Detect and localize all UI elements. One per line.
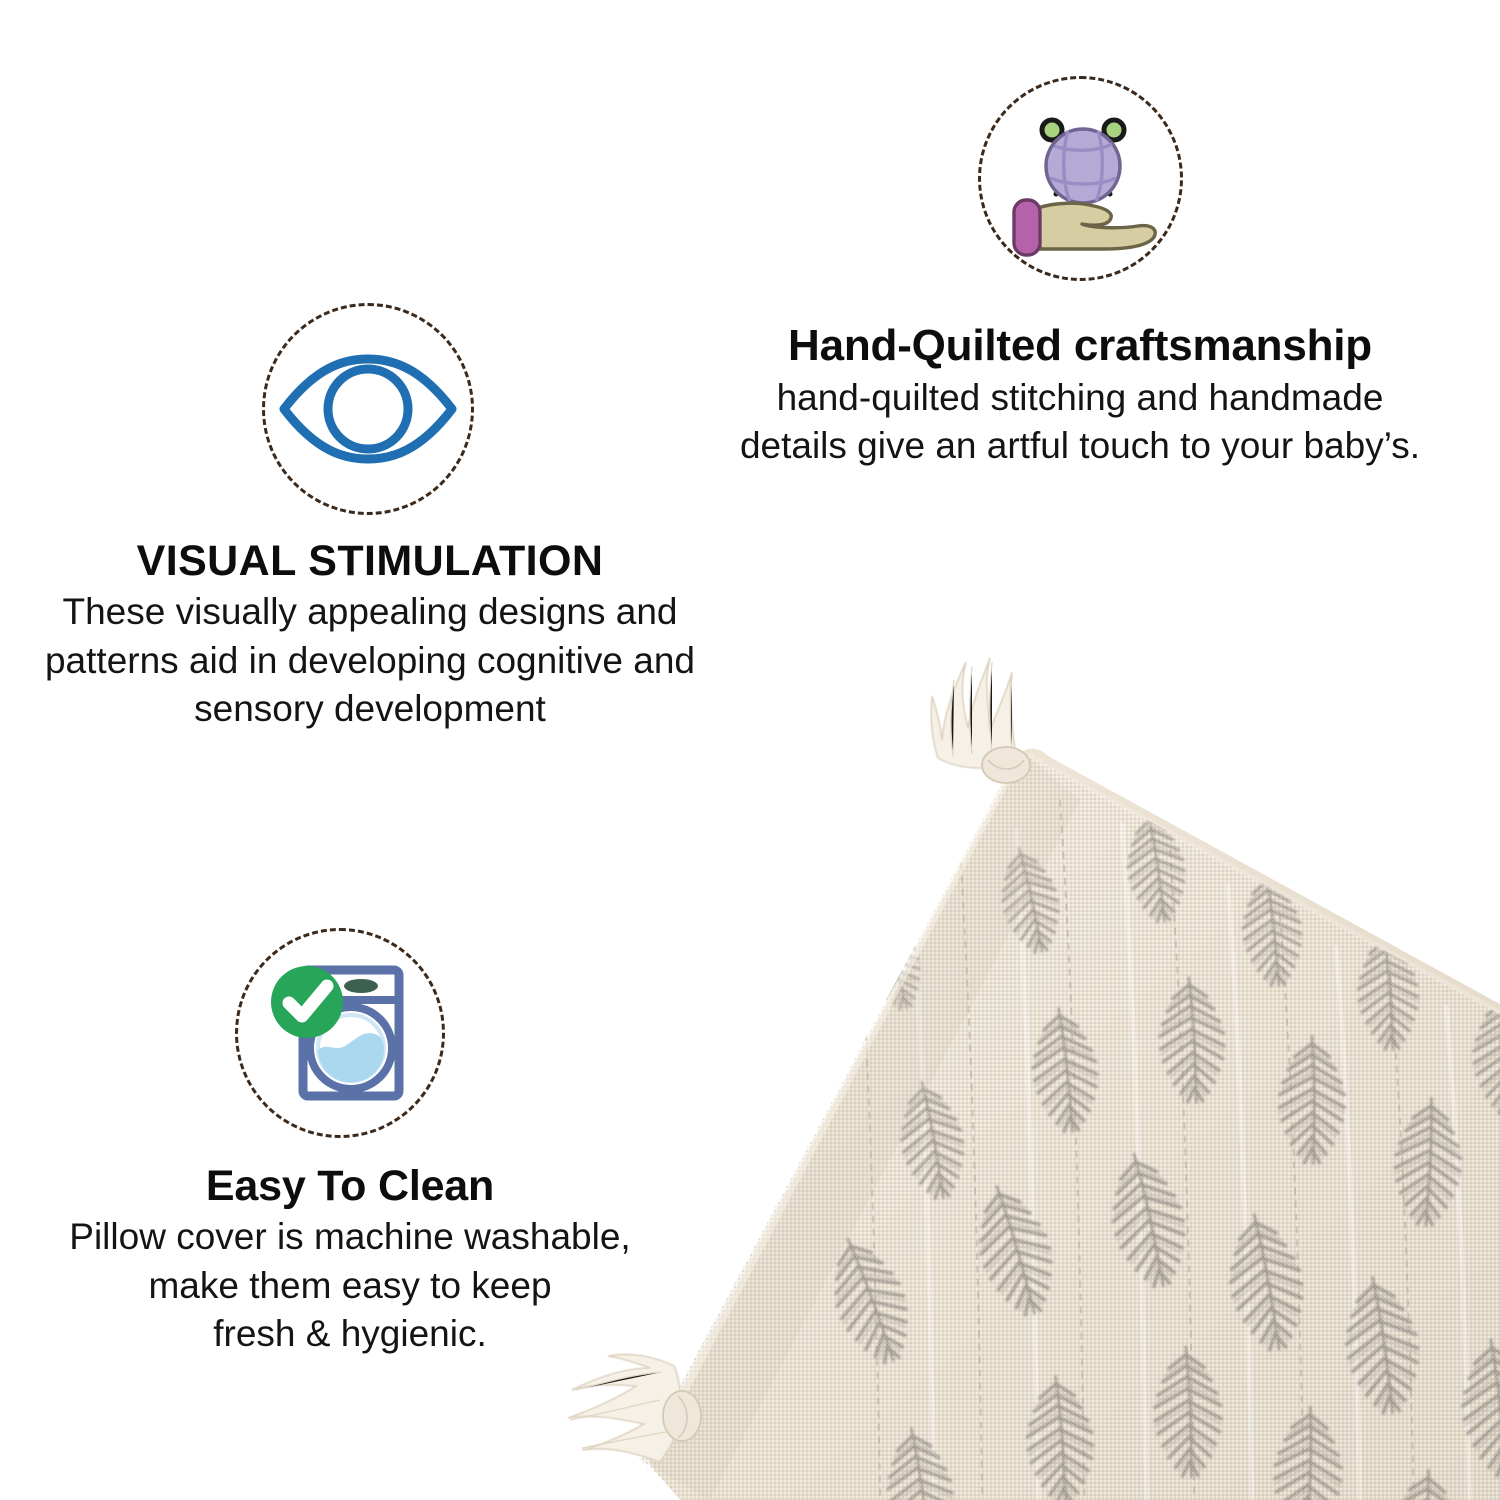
pillow-tassel-bottom-left xyxy=(568,1354,701,1462)
feature-body-line: make them easy to keep xyxy=(148,1265,551,1306)
feature-body: These visually appealing designs and pat… xyxy=(10,588,730,732)
feature-heading: Easy To Clean xyxy=(0,1163,700,1209)
feature-body-line: fresh & hygienic. xyxy=(213,1313,487,1354)
eye-icon xyxy=(278,353,458,465)
feature-body-line: sensory development xyxy=(194,688,546,729)
feature-heading: Hand-Quilted craftsmanship xyxy=(690,322,1470,370)
feature-easy-to-clean: Easy To Clean Pillow cover is machine wa… xyxy=(0,1163,700,1358)
feature-body: Pillow cover is machine washable, make t… xyxy=(0,1213,700,1357)
washing-machine-check-icon xyxy=(257,950,423,1116)
hand-quilted-icon-badge xyxy=(978,76,1183,281)
feature-body-line: These visually appealing designs and xyxy=(62,591,677,632)
pillow-body xyxy=(560,600,1500,1500)
pillow-tassel-top xyxy=(931,658,1030,783)
feature-body-line: Pillow cover is machine washable, xyxy=(69,1216,630,1257)
visual-stimulation-icon-badge xyxy=(262,303,474,515)
feature-body-line: patterns aid in developing cognitive and xyxy=(45,640,695,681)
feature-body: hand-quilted stitching and handmade deta… xyxy=(690,374,1470,470)
hand-holding-yarn-icon xyxy=(992,90,1170,268)
product-pillow-image xyxy=(560,600,1500,1500)
infographic-canvas: Hand-Quilted craftsmanship hand-quilted … xyxy=(0,0,1500,1500)
feature-body-line: details give an artful touch to your bab… xyxy=(740,425,1420,466)
feature-visual-stimulation: VISUAL STIMULATION These visually appeal… xyxy=(10,538,730,733)
feature-heading: VISUAL STIMULATION xyxy=(10,538,730,584)
feature-hand-quilted-craftsmanship: Hand-Quilted craftsmanship hand-quilted … xyxy=(690,322,1470,470)
feature-body-line: hand-quilted stitching and handmade xyxy=(777,377,1384,418)
easy-to-clean-icon-badge xyxy=(235,928,445,1138)
